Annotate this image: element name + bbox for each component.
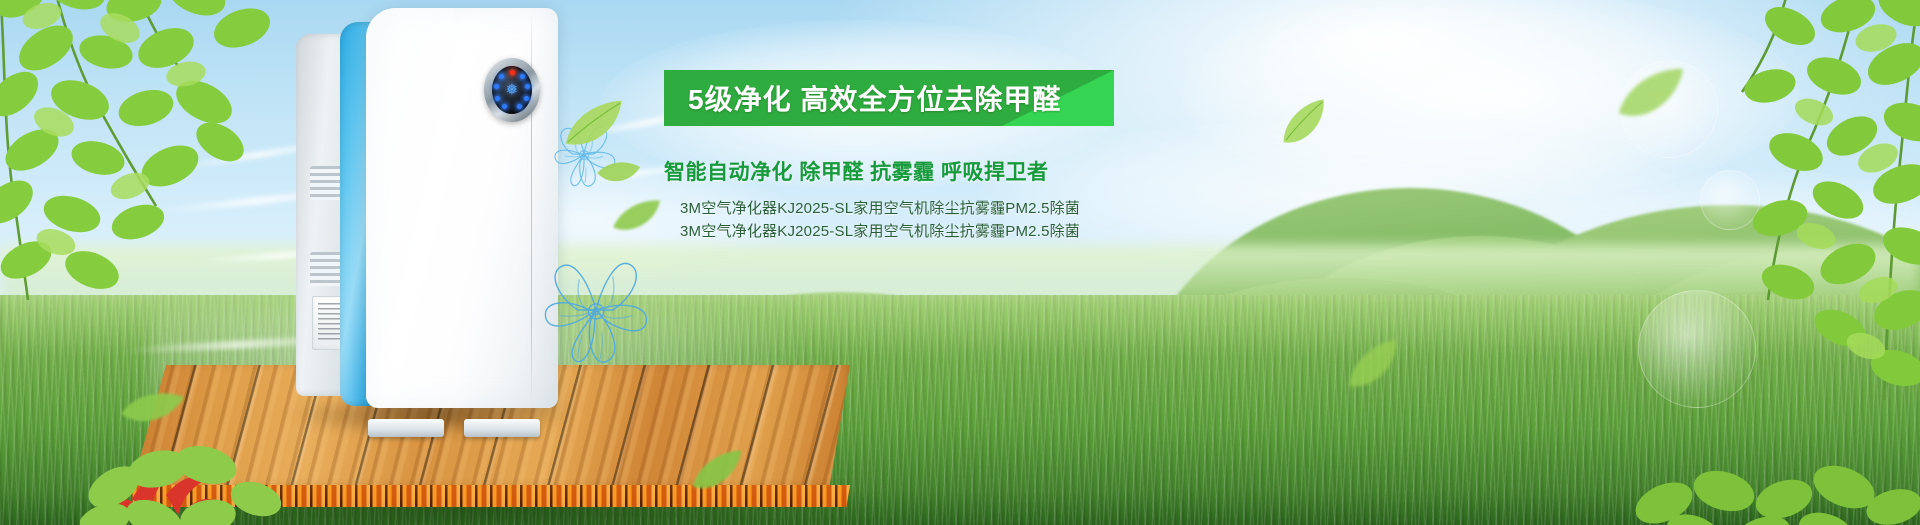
indicator-led — [525, 84, 530, 89]
purifier-foot — [464, 419, 540, 437]
purifier-front-panel: ❅ — [366, 8, 558, 408]
indicator-led — [517, 104, 522, 109]
headline-banner-bar: 5级净化 高效全方位去除甲醛 — [664, 70, 1114, 126]
marketing-copy: 5级净化 高效全方位去除甲醛 智能自动净化 除甲醛 抗雾霾 呼吸捍卫者 3M空气… — [664, 70, 1664, 244]
indicator-led — [524, 96, 529, 101]
headline-text: 5级净化 高效全方位去除甲醛 — [664, 78, 1061, 118]
indicator-led — [494, 84, 499, 89]
indicator-led-alert — [510, 70, 515, 75]
indicator-led — [502, 104, 507, 109]
promo-banner: ❅ — [0, 0, 1920, 525]
purifier-foot — [368, 419, 444, 437]
display-face: ❅ — [492, 66, 532, 114]
leaf-branch-decoration — [1620, 395, 1920, 525]
indicator-led — [499, 74, 504, 79]
product-description-line-1: 3M空气净化器KJ2025-SL家用空气机除尘抗雾霾PM2.5除菌 — [680, 197, 1664, 220]
indicator-led — [495, 96, 500, 101]
leaf-branch-decoration — [0, 0, 380, 300]
snowflake-icon: ❅ — [506, 83, 519, 98]
product-description-line-2: 3M空气净化器KJ2025-SL家用空气机除尘抗雾霾PM2.5除菌 — [680, 220, 1664, 243]
leaf-ribbon-decoration — [80, 395, 310, 525]
indicator-led — [520, 74, 525, 79]
subheadline-text: 智能自动净化 除甲醛 抗雾霾 呼吸捍卫者 — [664, 156, 1664, 186]
control-display[interactable]: ❅ — [484, 58, 540, 122]
